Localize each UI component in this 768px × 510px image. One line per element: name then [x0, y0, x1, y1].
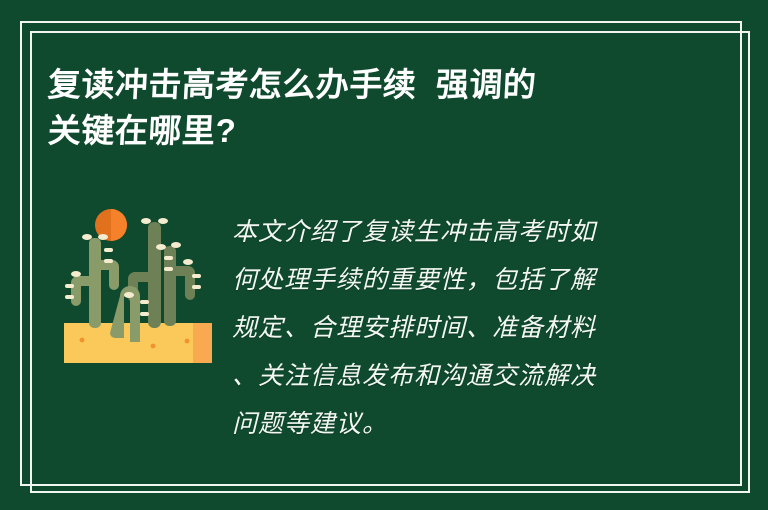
desert-cactus-illustration [60, 200, 220, 375]
summary-line-2: 何处理手续的重要性，包括了解 [232, 256, 664, 304]
summary-line-1: 本文介绍了复读生冲击高考时如 [232, 208, 664, 256]
page-title: 复读冲击高考怎么办手续 强调的 关键在哪里? [48, 62, 668, 154]
article-summary: 本文介绍了复读生冲击高考时如 何处理手续的重要性，包括了解 规定、合理安排时间、… [232, 208, 664, 448]
summary-line-4: 、关注信息发布和沟通交流解决 [232, 352, 664, 400]
cactus-left [65, 234, 119, 328]
cactus-right [164, 242, 201, 326]
title-line-1: 复读冲击高考怎么办手续 强调的 [47, 62, 669, 108]
title-line-2: 关键在哪里? [47, 108, 669, 154]
summary-line-3: 规定、合理安排时间、准备材料 [232, 304, 664, 352]
article-cover-card: 复读冲击高考怎么办手续 强调的 关键在哪里? [0, 0, 768, 510]
summary-line-5: 问题等建议。 [232, 400, 664, 448]
